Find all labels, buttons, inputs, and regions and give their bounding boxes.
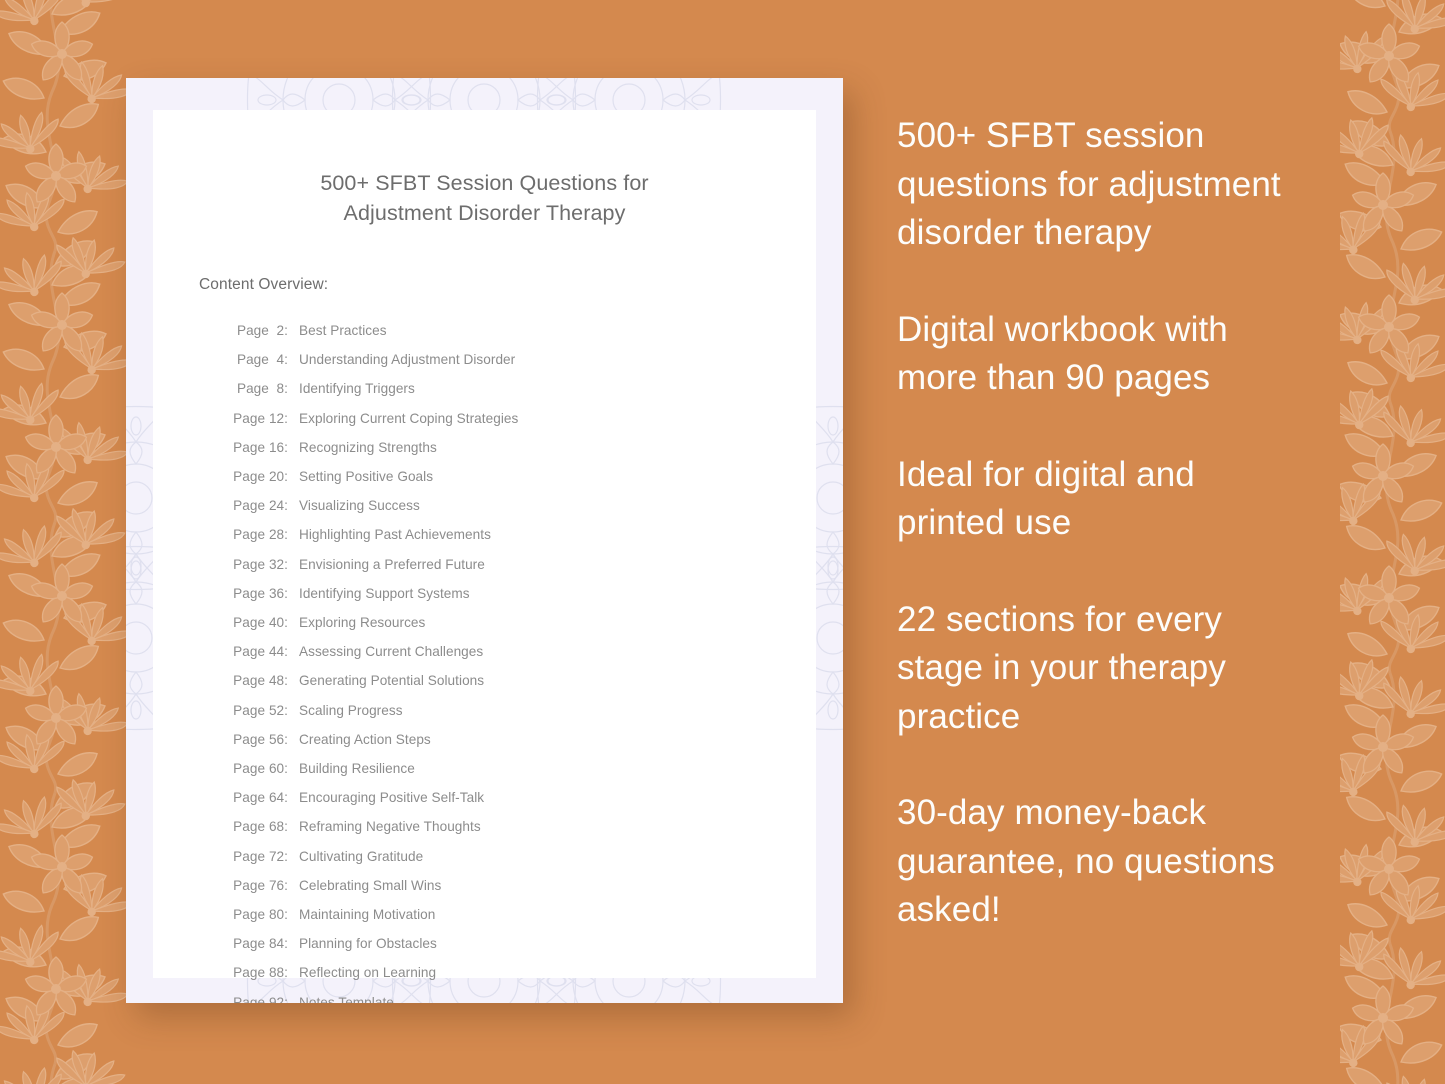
toc-page-number: Page 32: <box>226 550 288 579</box>
toc-row: Page 52:Scaling Progress <box>199 696 770 725</box>
toc-section-title: Exploring Current Coping Strategies <box>299 404 518 433</box>
toc-section-title: Creating Action Steps <box>299 725 431 754</box>
toc-row: Page 2:Best Practices <box>199 316 770 345</box>
marketing-bullet: 30-day money-back guarantee, no question… <box>897 789 1309 935</box>
toc-page-number: Page 24: <box>226 491 288 520</box>
toc-row: Page 4:Understanding Adjustment Disorder <box>199 345 770 374</box>
toc-row: Page 76:Celebrating Small Wins <box>199 871 770 900</box>
toc-section-title: Understanding Adjustment Disorder <box>299 345 515 374</box>
toc-row: Page 32:Envisioning a Preferred Future <box>199 550 770 579</box>
toc-page-number: Page 60: <box>226 754 288 783</box>
toc-row: Page 36:Identifying Support Systems <box>199 579 770 608</box>
toc-page-number: Page 88: <box>226 958 288 987</box>
toc-section-title: Scaling Progress <box>299 696 403 725</box>
toc-row: Page 88:Reflecting on Learning <box>199 958 770 987</box>
toc-page-number: Page 92: <box>226 988 288 1003</box>
left-floral-border <box>0 0 130 1084</box>
toc-row: Page 44:Assessing Current Challenges <box>199 637 770 666</box>
toc-section-title: Building Resilience <box>299 754 415 783</box>
toc-page-number: Page 8: <box>226 374 288 403</box>
toc-row: Page 56:Creating Action Steps <box>199 725 770 754</box>
toc-row: Page 40:Exploring Resources <box>199 608 770 637</box>
marketing-bullet: 500+ SFBT session questions for adjustme… <box>897 112 1309 258</box>
toc-page-number: Page 84: <box>226 929 288 958</box>
toc-page-number: Page 72: <box>226 842 288 871</box>
toc-section-title: Reframing Negative Thoughts <box>299 812 481 841</box>
toc-section-title: Celebrating Small Wins <box>299 871 441 900</box>
table-of-contents: Page 2:Best Practices Page 4:Understandi… <box>199 316 770 1003</box>
toc-section-title: Notes Template <box>299 988 394 1003</box>
toc-section-title: Cultivating Gratitude <box>299 842 423 871</box>
toc-page-number: Page 52: <box>226 696 288 725</box>
toc-page-number: Page 80: <box>226 900 288 929</box>
toc-section-title: Setting Positive Goals <box>299 462 433 491</box>
toc-row: Page 72:Cultivating Gratitude <box>199 842 770 871</box>
toc-section-title: Envisioning a Preferred Future <box>299 550 485 579</box>
toc-page-number: Page 28: <box>226 520 288 549</box>
floral-vine-ornament <box>0 0 130 1084</box>
toc-section-title: Identifying Support Systems <box>299 579 470 608</box>
toc-page-number: Page 36: <box>226 579 288 608</box>
toc-page-number: Page 20: <box>226 462 288 491</box>
toc-row: Page 12:Exploring Current Coping Strateg… <box>199 404 770 433</box>
page-title: 500+ SFBT Session Questions for Adjustme… <box>199 168 770 228</box>
marketing-bullet: 22 sections for every stage in your ther… <box>897 596 1309 742</box>
toc-row: Page 48:Generating Potential Solutions <box>199 666 770 695</box>
product-card: 500+ SFBT Session Questions for Adjustme… <box>126 78 843 1003</box>
toc-page-number: Page 48: <box>226 666 288 695</box>
toc-section-title: Best Practices <box>299 316 387 345</box>
marketing-bullets: 500+ SFBT session questions for adjustme… <box>897 112 1309 935</box>
toc-row: Page 92:Notes Template <box>199 988 770 1003</box>
toc-row: Page 60:Building Resilience <box>199 754 770 783</box>
document-page: 500+ SFBT Session Questions for Adjustme… <box>153 110 816 978</box>
toc-section-title: Maintaining Motivation <box>299 900 435 929</box>
toc-page-number: Page 76: <box>226 871 288 900</box>
content-overview-label: Content Overview: <box>199 276 770 294</box>
toc-row: Page 20:Setting Positive Goals <box>199 462 770 491</box>
right-floral-border <box>1340 0 1445 1084</box>
marketing-bullet: Digital workbook with more than 90 pages <box>897 306 1309 403</box>
toc-page-number: Page 4: <box>226 345 288 374</box>
toc-row: Page 68:Reframing Negative Thoughts <box>199 812 770 841</box>
marketing-bullet: Ideal for digital and printed use <box>897 451 1309 548</box>
toc-section-title: Visualizing Success <box>299 491 420 520</box>
toc-row: Page 28:Highlighting Past Achievements <box>199 520 770 549</box>
toc-page-number: Page 44: <box>226 637 288 666</box>
toc-section-title: Planning for Obstacles <box>299 929 437 958</box>
toc-row: Page 16:Recognizing Strengths <box>199 433 770 462</box>
toc-page-number: Page 16: <box>226 433 288 462</box>
toc-row: Page 84:Planning for Obstacles <box>199 929 770 958</box>
toc-section-title: Assessing Current Challenges <box>299 637 483 666</box>
toc-section-title: Highlighting Past Achievements <box>299 520 491 549</box>
toc-page-number: Page 68: <box>226 812 288 841</box>
toc-page-number: Page 12: <box>226 404 288 433</box>
toc-page-number: Page 2: <box>226 316 288 345</box>
toc-section-title: Exploring Resources <box>299 608 425 637</box>
toc-section-title: Encouraging Positive Self-Talk <box>299 783 484 812</box>
floral-vine-ornament <box>1340 0 1445 1084</box>
toc-section-title: Identifying Triggers <box>299 374 415 403</box>
toc-row: Page 8:Identifying Triggers <box>199 374 770 403</box>
toc-section-title: Recognizing Strengths <box>299 433 437 462</box>
toc-row: Page 80:Maintaining Motivation <box>199 900 770 929</box>
toc-section-title: Reflecting on Learning <box>299 958 436 987</box>
toc-row: Page 24:Visualizing Success <box>199 491 770 520</box>
toc-page-number: Page 64: <box>226 783 288 812</box>
toc-page-number: Page 56: <box>226 725 288 754</box>
card-frame: 500+ SFBT Session Questions for Adjustme… <box>126 78 843 1003</box>
toc-section-title: Generating Potential Solutions <box>299 666 484 695</box>
toc-row: Page 64:Encouraging Positive Self-Talk <box>199 783 770 812</box>
toc-page-number: Page 40: <box>226 608 288 637</box>
